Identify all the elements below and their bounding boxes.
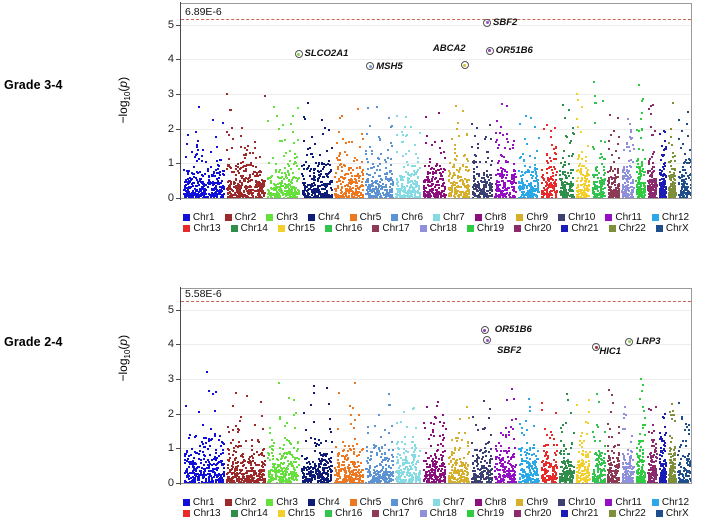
data-point — [391, 145, 393, 147]
data-point — [652, 188, 654, 190]
data-point — [278, 471, 280, 473]
data-point — [380, 153, 382, 155]
data-point — [275, 473, 277, 475]
data-point — [322, 168, 324, 170]
legend-item-chr5[interactable]: Chr5 — [350, 212, 382, 223]
data-point — [501, 180, 503, 182]
data-point — [188, 455, 190, 457]
data-point — [241, 183, 243, 185]
data-point — [553, 182, 555, 184]
data-point — [550, 136, 552, 138]
data-point — [578, 193, 580, 195]
data-point — [640, 137, 642, 139]
data-point — [392, 184, 394, 186]
data-point — [488, 179, 490, 181]
data-point — [463, 183, 465, 185]
data-point — [405, 135, 407, 137]
data-point — [391, 197, 393, 198]
legend-row-2-top: Chr13Chr14Chr15Chr16Chr17Chr18Chr19Chr20… — [180, 223, 692, 234]
data-point — [209, 454, 211, 456]
data-point — [245, 472, 247, 474]
legend-item-chr10[interactable]: Chr10 — [558, 212, 595, 223]
data-point — [379, 181, 381, 183]
data-point — [292, 195, 294, 197]
data-point — [659, 179, 661, 181]
data-point — [402, 176, 404, 178]
data-point — [248, 461, 250, 463]
data-point — [499, 173, 501, 175]
data-point — [515, 176, 517, 178]
data-point — [227, 472, 229, 474]
legend-swatch — [420, 225, 427, 232]
data-point — [276, 482, 278, 483]
data-point — [216, 172, 218, 174]
data-point — [359, 167, 361, 169]
data-point — [535, 173, 537, 175]
data-point — [638, 191, 640, 193]
data-point — [443, 182, 445, 184]
data-point — [505, 177, 507, 179]
data-point — [428, 165, 430, 167]
data-point — [572, 127, 574, 129]
data-point — [417, 177, 419, 179]
data-point — [186, 143, 188, 145]
data-point — [438, 192, 440, 194]
data-point — [529, 166, 531, 168]
legend-item-chr20[interactable]: Chr20 — [514, 223, 551, 234]
data-point — [244, 460, 246, 462]
data-point — [275, 163, 277, 165]
data-point — [594, 95, 596, 97]
data-point — [339, 117, 341, 119]
data-point — [458, 170, 460, 172]
data-point — [282, 124, 284, 126]
data-point — [608, 148, 610, 150]
data-point — [236, 469, 238, 471]
data-point — [291, 478, 293, 480]
data-point — [354, 194, 356, 196]
data-point — [196, 171, 198, 173]
data-point — [398, 190, 400, 192]
data-point — [273, 106, 275, 108]
data-point — [576, 196, 578, 198]
data-point — [682, 166, 684, 168]
data-point — [604, 187, 606, 189]
data-point — [448, 175, 450, 177]
data-point — [512, 144, 514, 146]
data-point — [272, 458, 274, 460]
data-point — [626, 170, 628, 172]
data-point — [252, 173, 254, 175]
data-point — [672, 152, 674, 154]
y-axis-tick-label: 1 — [168, 157, 181, 169]
data-point — [327, 163, 329, 165]
data-point — [390, 177, 392, 179]
data-point — [285, 186, 287, 188]
data-point — [304, 118, 306, 120]
data-point — [215, 391, 217, 393]
data-point — [548, 180, 550, 182]
legend-label: Chr10 — [568, 212, 595, 223]
data-point — [320, 170, 322, 172]
data-point — [678, 182, 680, 184]
data-point — [196, 190, 198, 192]
data-point — [585, 196, 587, 198]
data-point — [262, 466, 264, 468]
data-point — [536, 150, 538, 152]
data-point — [281, 172, 283, 174]
data-point — [438, 169, 440, 171]
data-point — [214, 433, 216, 435]
data-point — [232, 439, 234, 441]
data-point — [675, 192, 677, 194]
data-point — [211, 464, 213, 466]
data-point — [240, 416, 242, 418]
data-point — [226, 93, 228, 95]
data-point — [326, 150, 328, 152]
data-point — [572, 177, 574, 179]
legend-item-chr21[interactable]: Chr21 — [561, 223, 598, 234]
data-point — [254, 190, 256, 192]
data-point — [418, 188, 420, 190]
data-point — [578, 165, 580, 167]
data-point — [484, 192, 486, 194]
data-point — [417, 157, 419, 159]
data-point — [610, 186, 612, 188]
data-point — [250, 470, 252, 472]
data-point — [668, 142, 670, 144]
data-point — [195, 475, 197, 477]
data-point — [293, 414, 295, 416]
data-point — [309, 170, 311, 172]
data-point — [580, 184, 582, 186]
data-point — [245, 168, 247, 170]
data-point — [218, 455, 220, 457]
data-point — [565, 177, 567, 179]
data-point — [537, 179, 539, 181]
data-point — [581, 158, 583, 160]
data-point — [546, 124, 548, 126]
data-point — [366, 133, 368, 135]
data-point — [251, 439, 253, 441]
data-point — [395, 196, 397, 198]
data-point — [596, 188, 598, 190]
legend-item-chr1[interactable]: Chr1 — [183, 212, 215, 223]
legend-item-chrx[interactable]: ChrX — [656, 223, 689, 234]
data-point — [329, 183, 331, 185]
data-point — [365, 150, 367, 152]
legend-item-chr19[interactable]: Chr19 — [467, 223, 504, 234]
data-point — [641, 112, 643, 114]
data-point — [655, 189, 657, 191]
data-point — [617, 172, 619, 174]
data-point — [664, 162, 666, 164]
data-point — [601, 163, 603, 165]
data-point — [303, 184, 305, 186]
data-point — [373, 166, 375, 168]
legend-item-chr12[interactable]: Chr12 — [652, 212, 689, 223]
data-point — [474, 135, 476, 137]
data-point — [279, 418, 281, 420]
data-point — [372, 182, 374, 184]
data-point — [293, 468, 295, 470]
data-point — [290, 463, 292, 465]
data-point — [661, 187, 663, 189]
data-point — [261, 179, 263, 181]
data-point — [190, 454, 192, 456]
data-point — [514, 170, 516, 172]
data-point — [534, 169, 536, 171]
data-point — [205, 437, 207, 439]
data-point — [248, 476, 250, 478]
data-point — [194, 436, 196, 438]
data-point — [524, 197, 526, 199]
data-point — [555, 174, 557, 176]
data-point — [348, 141, 350, 143]
data-point — [289, 160, 291, 162]
data-point — [615, 150, 617, 152]
data-point — [377, 165, 379, 167]
data-point — [565, 189, 567, 191]
data-point — [497, 169, 499, 171]
data-point — [231, 194, 233, 196]
data-point — [429, 172, 431, 174]
legend-item-chr16[interactable]: Chr16 — [325, 223, 362, 234]
data-point — [291, 182, 293, 184]
data-point — [284, 437, 286, 439]
data-point — [527, 196, 529, 198]
data-point — [573, 133, 575, 135]
data-point — [524, 138, 526, 140]
data-point — [685, 178, 687, 180]
legend-item-chr4[interactable]: Chr4 — [308, 212, 340, 223]
legend-item-chr6[interactable]: Chr6 — [391, 212, 423, 223]
data-point — [476, 127, 478, 129]
data-point — [260, 401, 262, 403]
data-point — [231, 127, 233, 129]
data-point — [455, 105, 457, 107]
data-point — [207, 186, 209, 188]
data-point — [293, 399, 295, 401]
data-point — [272, 157, 274, 159]
data-point — [566, 196, 568, 198]
data-point — [338, 155, 340, 157]
data-point — [468, 179, 470, 181]
data-point — [673, 195, 675, 197]
data-point — [210, 166, 212, 168]
data-point — [530, 197, 532, 198]
legend-label: Chr15 — [288, 223, 315, 234]
data-point — [617, 143, 619, 145]
data-point — [638, 148, 640, 150]
data-point — [296, 165, 298, 167]
data-point — [336, 142, 338, 144]
data-point — [385, 167, 387, 169]
data-point — [654, 130, 656, 132]
data-point — [285, 184, 287, 186]
data-point — [325, 440, 327, 442]
data-point — [473, 168, 475, 170]
data-point — [618, 185, 620, 187]
data-point — [564, 184, 566, 186]
data-point — [429, 161, 431, 163]
data-point — [352, 181, 354, 183]
data-point — [317, 186, 319, 188]
data-point — [690, 187, 691, 189]
data-point — [214, 192, 216, 194]
data-point — [390, 170, 392, 172]
data-point — [297, 189, 299, 191]
data-point — [581, 177, 583, 179]
data-point — [359, 146, 361, 148]
data-point — [478, 184, 480, 186]
data-point — [545, 181, 547, 183]
legend-item-chr17[interactable]: Chr17 — [372, 223, 409, 234]
data-point — [415, 182, 417, 184]
data-point — [260, 196, 262, 198]
y-axis-tick-label: 2 — [168, 123, 181, 135]
data-point — [486, 151, 488, 153]
legend-label: Chr13 — [193, 223, 220, 234]
data-point — [636, 129, 638, 131]
data-point — [203, 185, 205, 187]
data-point — [586, 172, 588, 174]
data-point — [396, 151, 398, 153]
data-point — [476, 166, 478, 168]
legend-item-chr2[interactable]: Chr2 — [225, 212, 257, 223]
data-point — [218, 165, 220, 167]
data-point — [354, 178, 356, 180]
data-point — [513, 163, 515, 165]
data-point — [403, 186, 405, 188]
legend-swatch — [231, 225, 238, 232]
data-point — [288, 179, 290, 181]
data-point — [294, 458, 296, 460]
data-point — [185, 193, 187, 195]
data-point — [287, 468, 289, 470]
data-point — [220, 474, 222, 476]
legend-swatch — [266, 214, 273, 221]
data-point — [292, 187, 294, 189]
data-point — [608, 182, 610, 184]
legend-item-chr22[interactable]: Chr22 — [609, 223, 646, 234]
data-point — [458, 186, 460, 188]
data-point — [403, 166, 405, 168]
data-point — [495, 141, 497, 143]
data-point — [499, 132, 501, 134]
data-point — [669, 171, 671, 173]
data-point — [233, 171, 235, 173]
data-point — [546, 191, 548, 193]
data-point — [290, 168, 292, 170]
data-point — [282, 448, 284, 450]
legend-item-chr8[interactable]: Chr8 — [475, 212, 507, 223]
data-point — [208, 465, 210, 467]
data-point — [613, 161, 615, 163]
data-point — [237, 163, 239, 165]
data-point — [664, 140, 666, 142]
data-point — [271, 175, 273, 177]
data-point — [637, 159, 639, 161]
data-point — [202, 197, 204, 198]
data-point — [309, 147, 311, 149]
legend-item-chr9[interactable]: Chr9 — [516, 212, 548, 223]
data-point — [346, 154, 348, 156]
data-point — [263, 474, 265, 476]
legend-item-chr15[interactable]: Chr15 — [278, 223, 315, 234]
data-point — [361, 171, 363, 173]
legend-item-chr7[interactable]: Chr7 — [433, 212, 465, 223]
data-point — [496, 120, 498, 122]
data-point — [326, 461, 328, 463]
data-point — [622, 171, 624, 173]
data-point — [507, 161, 509, 163]
data-point — [556, 171, 558, 173]
data-point — [286, 452, 288, 454]
data-point — [414, 144, 416, 146]
data-point — [372, 163, 374, 165]
data-point — [311, 136, 313, 138]
data-point — [588, 185, 590, 187]
data-point — [627, 189, 629, 191]
data-point — [288, 165, 290, 167]
legend-item-chr13[interactable]: Chr13 — [183, 223, 220, 234]
data-point — [417, 191, 419, 193]
data-point — [258, 190, 260, 192]
data-point — [568, 155, 570, 157]
data-point — [361, 161, 363, 163]
data-point — [402, 141, 404, 143]
legend-item-chr14[interactable]: Chr14 — [231, 223, 268, 234]
data-point — [271, 448, 273, 450]
data-point — [233, 481, 235, 483]
data-point — [204, 482, 206, 483]
data-point — [330, 196, 332, 198]
data-point — [466, 166, 468, 168]
legend-item-chr18[interactable]: Chr18 — [420, 223, 457, 234]
data-point — [638, 166, 640, 168]
data-point — [214, 468, 216, 470]
data-point — [227, 192, 229, 194]
data-point — [690, 179, 691, 181]
data-point — [283, 444, 285, 446]
legend-swatch — [558, 214, 565, 221]
data-point — [536, 175, 538, 177]
data-point — [228, 134, 230, 136]
data-point — [674, 175, 676, 177]
data-point — [407, 190, 409, 192]
data-point — [250, 461, 252, 463]
data-point — [552, 172, 554, 174]
data-point — [280, 177, 282, 179]
data-point — [367, 168, 369, 170]
data-point — [639, 172, 641, 174]
data-point — [485, 195, 487, 197]
data-point — [497, 162, 499, 164]
data-point — [203, 437, 205, 439]
data-point — [648, 182, 650, 184]
data-point — [354, 175, 356, 177]
legend-label: Chr4 — [318, 212, 340, 223]
data-point — [428, 180, 430, 182]
data-point — [297, 442, 299, 444]
data-point — [689, 174, 691, 176]
data-point — [559, 174, 561, 176]
data-point — [188, 186, 190, 188]
data-point — [285, 195, 287, 197]
legend-item-chr3[interactable]: Chr3 — [266, 212, 298, 223]
legend-item-chr11[interactable]: Chr11 — [605, 212, 642, 223]
